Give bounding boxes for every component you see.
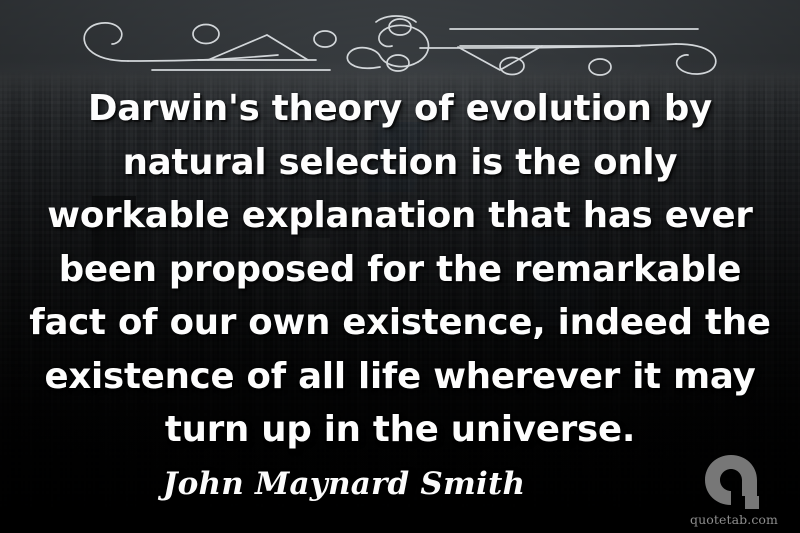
- quote-card: Darwin's theory of evolution by natural …: [0, 0, 800, 533]
- quote-line: turn up in the universe.: [28, 403, 772, 457]
- quote-text: Darwin's theory of evolution by natural …: [0, 82, 800, 457]
- quote-line: natural selection is the only: [28, 136, 772, 190]
- decorative-flourish-divider: [80, 4, 720, 78]
- quote-line: been proposed for the remarkable: [28, 243, 772, 297]
- quote-line: workable explanation that has ever: [28, 189, 772, 243]
- quote-author: John Maynard Smith: [0, 466, 688, 502]
- watermark-site-label: quotetab.com: [682, 512, 786, 527]
- watermark[interactable]: quotetab.com: [682, 453, 786, 527]
- quote-line: existence of all life wherever it may: [28, 350, 772, 404]
- quote-line: fact of our own existence, indeed the: [28, 296, 772, 350]
- quote-line: Darwin's theory of evolution by: [28, 82, 772, 136]
- quotetab-q-logo-icon: [703, 453, 765, 511]
